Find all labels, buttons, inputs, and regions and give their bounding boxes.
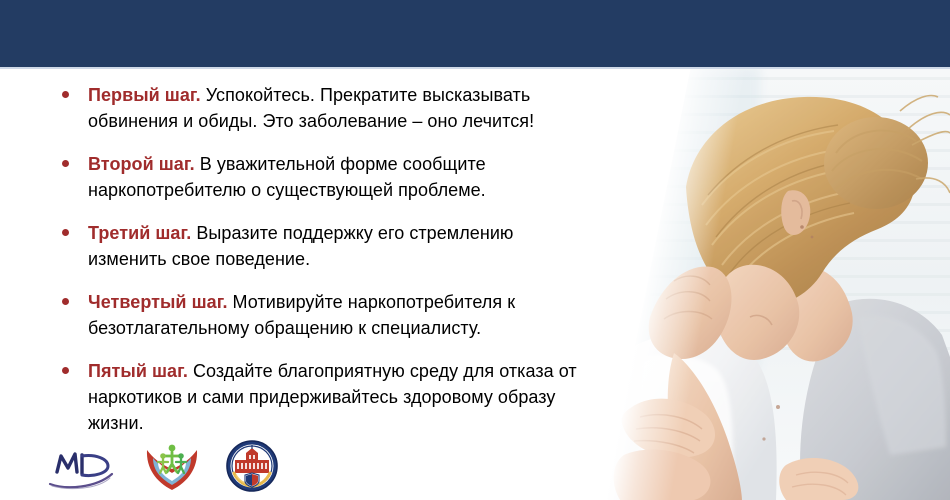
bullet-dot-icon [62,229,69,236]
step-label: Четвертый шаг. [88,292,228,312]
logo-strip [44,440,278,492]
list-item: Третий шаг. Выразите поддержку его стрем… [0,220,600,272]
step-label: Третий шаг. [88,223,191,243]
bullet-dot-icon [62,367,69,374]
step-text: Пятый шаг. Создайте благоприятную среду … [88,358,592,436]
header-banner [0,0,950,67]
family-emblem-logo [144,442,200,492]
step-text: Первый шаг. Успокойтесь. Прекратите выск… [88,82,592,134]
bullet-dot-icon [62,91,69,98]
step-label: Второй шаг. [88,154,195,174]
step-text: Второй шаг. В уважительной форме сообщит… [88,151,592,203]
list-item: Четвертый шаг. Мотивируйте наркопотребит… [0,289,600,341]
photo-illustration [590,67,950,500]
mz-monogram-logo [44,444,118,492]
poster-root: ЕСЛИ В ДОМ ПОСТУЧАЛАСЬ БЕДА... Первый ша… [0,0,950,500]
institution-seal-logo [226,440,278,492]
list-item: Второй шаг. В уважительной форме сообщит… [0,151,600,203]
step-text: Третий шаг. Выразите поддержку его стрем… [88,220,592,272]
step-label: Первый шаг. [88,85,201,105]
step-text: Четвертый шаг. Мотивируйте наркопотребит… [88,289,592,341]
list-item: Пятый шаг. Создайте благоприятную среду … [0,358,600,436]
bullet-dot-icon [62,298,69,305]
steps-list: Первый шаг. Успокойтесь. Прекратите выск… [0,82,600,453]
distressed-woman-photo [590,67,950,500]
list-item: Первый шаг. Успокойтесь. Прекратите выск… [0,82,600,134]
step-label: Пятый шаг. [88,361,188,381]
bullet-dot-icon [62,160,69,167]
header-underline [0,67,950,69]
